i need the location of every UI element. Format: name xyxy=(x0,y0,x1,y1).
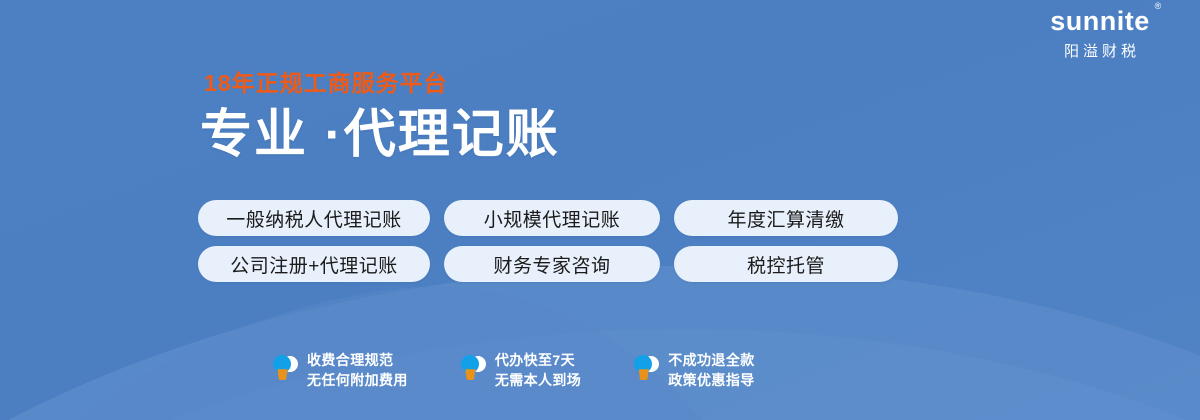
feature-line-2: 政策优惠指导 xyxy=(668,372,754,388)
feature-strip: 收费合理规范 无任何附加费用 代办快至7天 无需本人到场 不成功退全款 政策优惠… xyxy=(272,350,755,391)
brand-logo-wordmark: sunnite® xyxy=(1050,6,1150,37)
brand-logo-chinese-name: 阳溢财税 xyxy=(1020,40,1180,61)
feature-text-pricing: 收费合理规范 无任何附加费用 xyxy=(307,350,408,391)
feature-text-speed: 代办快至7天 无需本人到场 xyxy=(495,350,581,391)
feature-item-guarantee: 不成功退全款 政策优惠指导 xyxy=(633,350,754,391)
feature-line-1: 代办快至7天 xyxy=(495,352,575,368)
service-pill-annual-tax-settlement[interactable]: 年度汇算清缴 xyxy=(674,200,898,236)
service-pill-general-taxpayer-bookkeeping[interactable]: 一般纳税人代理记账 xyxy=(198,200,430,236)
feature-line-1: 收费合理规范 xyxy=(307,352,393,368)
hero-text-block: 18年正规工商服务平台 专业 ·代理记账 xyxy=(200,72,560,161)
hero-tagline: 18年正规工商服务平台 xyxy=(204,72,560,95)
service-pill-grid: 一般纳税人代理记账 小规模代理记账 年度汇算清缴 公司注册+代理记账 财务专家咨… xyxy=(198,200,898,282)
feature-line-1: 不成功退全款 xyxy=(668,352,754,368)
service-pill-tax-control-hosting[interactable]: 税控托管 xyxy=(674,246,898,282)
eclipse-badge-icon xyxy=(272,353,298,387)
service-pill-financial-expert-consulting[interactable]: 财务专家咨询 xyxy=(444,246,660,282)
feature-line-2: 无任何附加费用 xyxy=(307,372,408,388)
registered-trademark-icon: ® xyxy=(1155,2,1162,11)
eclipse-badge-icon xyxy=(633,353,659,387)
brand-logo[interactable]: sunnite® 阳溢财税 xyxy=(1020,6,1180,61)
feature-text-guarantee: 不成功退全款 政策优惠指导 xyxy=(668,350,754,391)
hero-headline: 专业 ·代理记账 xyxy=(200,109,560,161)
feature-line-2: 无需本人到场 xyxy=(495,372,581,388)
service-pill-company-registration-bookkeeping[interactable]: 公司注册+代理记账 xyxy=(198,246,430,282)
feature-item-speed: 代办快至7天 无需本人到场 xyxy=(460,350,581,391)
eclipse-badge-icon xyxy=(460,353,486,387)
feature-item-pricing: 收费合理规范 无任何附加费用 xyxy=(272,350,408,391)
promotional-banner: sunnite® 阳溢财税 18年正规工商服务平台 专业 ·代理记账 一般纳税人… xyxy=(0,0,1200,420)
service-pill-small-scale-bookkeeping[interactable]: 小规模代理记账 xyxy=(444,200,660,236)
